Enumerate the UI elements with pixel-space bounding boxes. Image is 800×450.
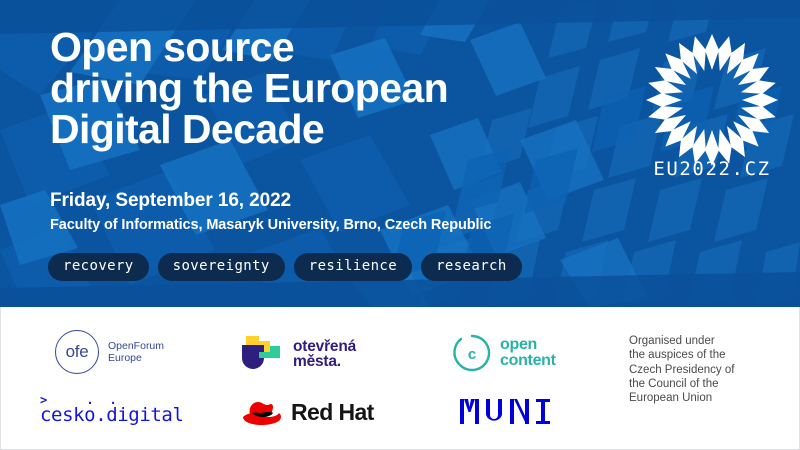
muni-wordmark-icon bbox=[458, 396, 550, 428]
hero-section: Open source driving the European Digital… bbox=[0, 0, 800, 307]
logo-open-content[interactable]: c open content bbox=[452, 333, 556, 373]
logo-openforum-europe[interactable]: ofe OpenForum Europe bbox=[55, 330, 164, 374]
openforum-europe-label: OpenForum Europe bbox=[108, 340, 164, 364]
topic-tag-recovery[interactable]: recovery bbox=[48, 253, 149, 281]
auspices-statement: Organised under the auspices of the Czec… bbox=[629, 334, 789, 405]
otevrena-mesta-mark-icon bbox=[240, 332, 284, 376]
red-hat-label: Red Hat bbox=[291, 399, 374, 426]
event-date: Friday, September 16, 2022 bbox=[50, 190, 291, 212]
open-content-c-circle-icon: c bbox=[452, 333, 492, 373]
otevrena-mesta-label: otevřená města. bbox=[293, 339, 356, 369]
logo-otevrena-mesta[interactable]: otevřená města. bbox=[240, 332, 356, 376]
svg-text:c: c bbox=[468, 346, 476, 363]
topic-tag-list: recovery sovereignty resilience research bbox=[48, 253, 522, 281]
logo-red-hat[interactable]: Red Hat bbox=[240, 396, 374, 428]
page-title: Open source driving the European Digital… bbox=[50, 27, 590, 150]
logo-cesko-digital[interactable]: > . . cesko.digital bbox=[40, 396, 184, 426]
event-venue: Faculty of Informatics, Masaryk Universi… bbox=[50, 217, 491, 233]
logo-muni[interactable] bbox=[458, 396, 550, 428]
event-poster: Open source driving the European Digital… bbox=[0, 0, 800, 450]
eu2022cz-sunburst-icon bbox=[638, 25, 786, 175]
eu2022cz-wordmark: EU2022.CZ bbox=[638, 158, 786, 180]
open-content-label: open content bbox=[500, 337, 556, 369]
topic-tag-sovereignty[interactable]: sovereignty bbox=[158, 253, 285, 281]
topic-tag-research[interactable]: research bbox=[421, 253, 522, 281]
ofe-monogram-text: ofe bbox=[66, 342, 89, 362]
ofe-monogram-icon: ofe bbox=[55, 330, 99, 374]
cesko-digital-label: cesko.digital bbox=[40, 405, 184, 426]
topic-tag-resilience[interactable]: resilience bbox=[294, 253, 412, 281]
red-hat-fedora-icon bbox=[240, 396, 284, 428]
